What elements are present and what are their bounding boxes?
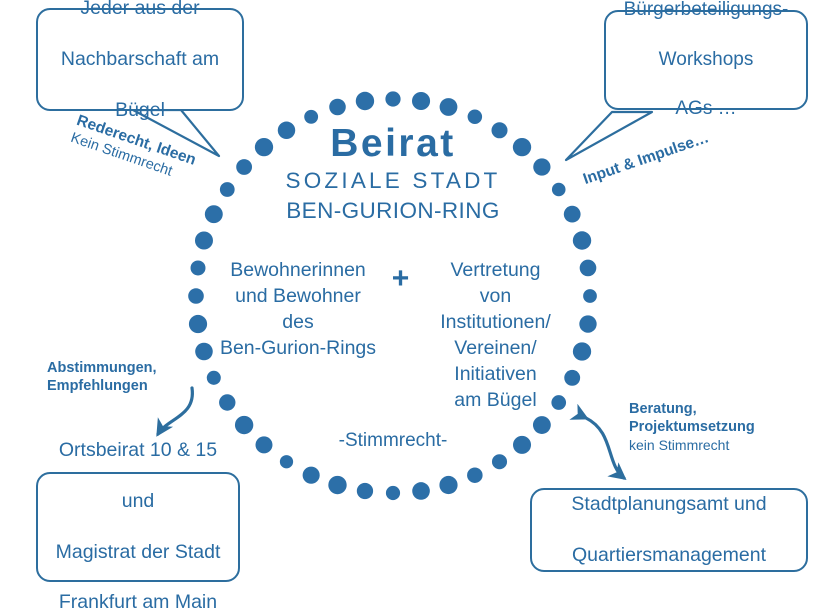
label-beratung-line1: Beratung, <box>629 400 755 418</box>
arrow-to-ortsbeirat <box>158 388 192 434</box>
diagram-canvas: Beirat SOZIALE STADT BEN-GURION-RING Bew… <box>0 0 820 600</box>
ring-left-line-2: und Bewohner <box>216 284 381 310</box>
ring-right-line-5: Initiativen <box>421 362 571 388</box>
ring-footnote: -Stimmrecht- <box>243 430 543 452</box>
label-beratung: Beratung, Projektumsetzung kein Stimmrec… <box>629 400 755 454</box>
bubble-workshops-line3: AGs … <box>606 97 806 122</box>
bubble-neighbourhood-line3: Bügel <box>38 98 242 123</box>
bubble-workshops-line2: Workshops <box>606 48 806 73</box>
ring-title-block: Beirat SOZIALE STADT BEN-GURION-RING <box>243 124 543 223</box>
arrow-stadtplanung <box>586 418 624 478</box>
label-beratung-line3: kein Stimmrecht <box>629 437 755 455</box>
label-beratung-line2: Projektumsetzung <box>629 418 755 436</box>
ring-body-block: Bewohnerinnen und Bewohner des Ben-Gurio… <box>208 258 578 414</box>
ring-subtitle-line2: BEN-GURION-RING <box>243 198 543 223</box>
box-ortsbeirat-line4: Frankfurt am Main <box>38 590 238 615</box>
box-stadtplanung[interactable]: Stadtplanungsamt und Quartiersmanagement <box>530 488 808 572</box>
box-stadtplanung-line1: Stadtplanungsamt und <box>532 492 806 517</box>
bubble-neighbourhood[interactable]: Jeder aus der Nachbarschaft am Bügel <box>36 8 244 111</box>
box-stadtplanung-line2: Quartiersmanagement <box>532 543 806 568</box>
label-abstimmungen-line2: Empfehlungen <box>47 377 157 395</box>
ring-right-line-6: am Bügel <box>421 388 571 414</box>
bubble-neighbourhood-line1: Jeder aus der <box>38 0 242 21</box>
ring-left-line-3: des <box>216 310 381 336</box>
ring-right-line-2: von <box>421 284 571 310</box>
ring-left-line-1: Bewohnerinnen <box>216 258 381 284</box>
box-ortsbeirat-line2: und <box>38 489 238 514</box>
bubble-workshops[interactable]: Bürgerbeteiligungs- Workshops AGs … <box>604 10 808 110</box>
ring-left-line-4: Ben-Gurion-Rings <box>216 336 381 362</box>
bubble-workshops-line1: Bürgerbeteiligungs- <box>606 0 806 23</box>
ring-right-column: Vertretung von Institutionen/ Vereinen/ … <box>421 258 571 414</box>
ring-title: Beirat <box>243 124 543 165</box>
ring-left-column: Bewohnerinnen und Bewohner des Ben-Gurio… <box>216 258 381 362</box>
bubble-neighbourhood-line2: Nachbarschaft am <box>38 47 242 72</box>
box-ortsbeirat-line3: Magistrat der Stadt <box>38 540 238 565</box>
box-ortsbeirat-line1: Ortsbeirat 10 & 15 <box>38 438 238 463</box>
ring-right-line-3: Institutionen/ <box>421 310 571 336</box>
ring-right-line-4: Vereinen/ <box>421 336 571 362</box>
ring-right-line-1: Vertretung <box>421 258 571 284</box>
plus-symbol: + <box>381 258 421 295</box>
label-abstimmungen-line1: Abstimmungen, <box>47 359 157 377</box>
box-ortsbeirat[interactable]: Ortsbeirat 10 & 15 und Magistrat der Sta… <box>36 472 240 582</box>
ring-subtitle-line1: SOZIALE STADT <box>243 165 543 198</box>
label-abstimmungen: Abstimmungen, Empfehlungen <box>47 359 157 396</box>
